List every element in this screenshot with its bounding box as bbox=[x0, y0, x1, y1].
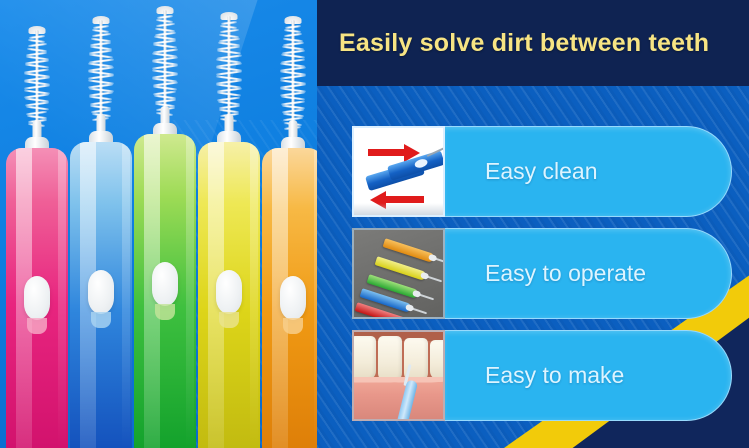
brush-grip-pad bbox=[152, 262, 178, 306]
teeth-gums-thumbnail bbox=[352, 330, 445, 421]
handle-grip-dot bbox=[414, 158, 429, 169]
product-photo-area bbox=[0, 0, 330, 448]
feature-pill-easy-clean[interactable]: Easy clean bbox=[442, 126, 732, 217]
mini-brush-orange bbox=[383, 238, 435, 263]
handle-edge-light bbox=[186, 134, 193, 448]
handle-edge-light bbox=[250, 142, 257, 448]
colored-brushes-thumbnail bbox=[352, 228, 445, 319]
brush-grip-base bbox=[27, 318, 47, 334]
brush-grip-pad bbox=[88, 270, 114, 314]
feature-label: Easy to operate bbox=[485, 260, 646, 287]
bristle-head-green bbox=[152, 10, 178, 110]
feature-item-easy-to-operate[interactable]: Easy to operate bbox=[352, 228, 732, 319]
feature-item-easy-clean[interactable]: Easy clean bbox=[352, 126, 732, 217]
handle-edge-light bbox=[122, 142, 129, 448]
feature-panel-area: Easily solve dirt between teeth bbox=[317, 0, 749, 448]
brush-grip-base bbox=[155, 304, 175, 320]
feature-item-easy-to-make[interactable]: Easy to make bbox=[352, 330, 732, 421]
tooth bbox=[430, 340, 445, 380]
handle-edge-light bbox=[58, 148, 65, 448]
brush-grip-base bbox=[283, 318, 303, 334]
brush-motion-arrows-thumbnail bbox=[352, 126, 445, 217]
headline-text: Easily solve dirt between teeth bbox=[339, 29, 709, 58]
feature-pill-easy-to-operate[interactable]: Easy to operate bbox=[442, 228, 732, 319]
mini-brush-yellow bbox=[375, 256, 427, 281]
bristle-head-yellow bbox=[216, 16, 242, 118]
brush-grip-pad bbox=[280, 276, 306, 320]
feature-label: Easy clean bbox=[485, 158, 598, 185]
headline-bar: Easily solve dirt between teeth bbox=[317, 0, 749, 86]
tooth bbox=[352, 336, 376, 380]
bristle-head-blue bbox=[88, 20, 114, 118]
brush-grip-base bbox=[219, 312, 239, 328]
bristle-head-pink bbox=[24, 30, 50, 124]
tooth bbox=[378, 336, 402, 382]
feature-list: Easy clean bbox=[352, 126, 732, 432]
brush-grip-pad bbox=[216, 270, 242, 314]
gum-line bbox=[354, 377, 443, 387]
bristle-head-orange bbox=[280, 20, 306, 124]
feature-pill-easy-to-make[interactable]: Easy to make bbox=[442, 330, 732, 421]
product-banner: Easily solve dirt between teeth bbox=[0, 0, 749, 448]
brush-grip-base bbox=[91, 312, 111, 328]
thumbnail-shadow bbox=[354, 203, 443, 215]
feature-label: Easy to make bbox=[485, 362, 624, 389]
brush-grip-pad bbox=[24, 276, 50, 320]
